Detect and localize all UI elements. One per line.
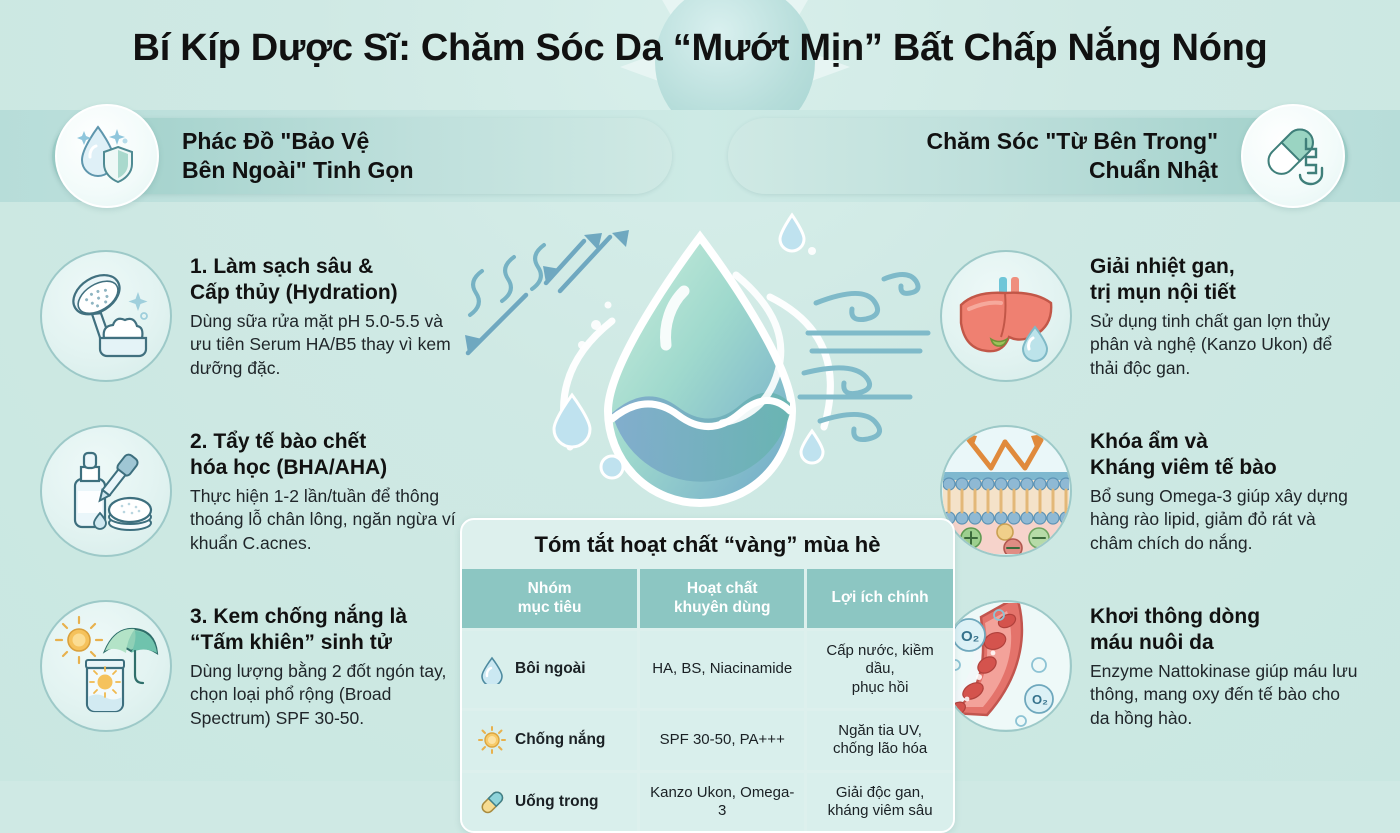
summary-table: Nhóm mục tiêu Hoạt chất khuyên dùng Lợi … <box>462 569 953 831</box>
table-cell-benefit: Cấp nước, kiềm dầu, phục hồi <box>806 630 953 710</box>
sun-glyph <box>56 617 102 663</box>
left-item-3: 3. Kem chống nắng là “Tấm khiên” sinh tử… <box>40 600 460 732</box>
banner-left-line1: Phác Đồ "Bảo Vệ <box>182 127 414 156</box>
right-item-1-heading-line1: Giải nhiệt gan, <box>1090 255 1235 278</box>
left-item-2-heading-line1: 2. Tẩy tế bào chết <box>190 430 366 453</box>
left-item-3-text: 3. Kem chống nắng là “Tấm khiên” sinh tử… <box>190 600 460 730</box>
banner-left-badge <box>55 104 159 208</box>
sun-icon <box>478 726 506 754</box>
right-item-1-icon-circle <box>940 250 1072 382</box>
banner-right-text: Chăm Sóc "Từ Bên Trong" Chuẩn Nhật <box>927 127 1219 185</box>
svg-text:O₂: O₂ <box>961 628 979 645</box>
table-header-group-line1: Nhóm <box>528 580 572 597</box>
table-row: Uống trong Kanzo Ukon, Omega-3 Giải độc … <box>462 771 953 831</box>
table-header-row: Nhóm mục tiêu Hoạt chất khuyên dùng Lợi … <box>462 569 953 630</box>
liver-droplet-icon <box>951 261 1061 371</box>
page-title: Bí Kíp Dược Sĩ: Chăm Sóc Da “Mướt Mịn” B… <box>0 26 1400 72</box>
infographic-canvas: Bí Kíp Dược Sĩ: Chăm Sóc Da “Mướt Mịn” B… <box>0 0 1400 781</box>
table-row: Chống nắng SPF 30-50, PA+++ Ngăn tia UV,… <box>462 710 953 772</box>
sunscreen-tube-umbrella-icon <box>53 613 159 719</box>
right-item-2: Khóa ẩm và Kháng viêm tế bào Bổ sung Ome… <box>940 425 1360 557</box>
benefit-line2: chống lão hóa <box>833 740 927 757</box>
table-cell-ingredient: SPF 30-50, PA+++ <box>639 710 806 772</box>
left-item-3-heading-line2: “Tấm khiên” sinh tử <box>190 631 392 654</box>
banner-left-text: Phác Đồ "Bảo Vệ Bên Ngoài" Tinh Gọn <box>182 127 414 185</box>
left-item-3-body: Dùng lượng bằng 2 đốt ngón tay, chọn loạ… <box>190 660 460 730</box>
right-item-1-heading: Giải nhiệt gan, trị mụn nội tiết <box>1090 254 1360 305</box>
table-header-ingredient-line2: khuyên dùng <box>674 599 770 616</box>
right-item-3-icon-circle: O₂ O₂ <box>940 600 1072 732</box>
svg-text:O₂: O₂ <box>1032 692 1048 707</box>
table-header-benefit-line1: Lợi ích chính <box>832 589 929 606</box>
right-item-2-heading-line1: Khóa ẩm và <box>1090 430 1208 453</box>
serum-dropper-cotton-pad-icon <box>54 439 158 543</box>
left-item-3-icon-circle <box>40 600 172 732</box>
table-cell-ingredient: HA, BS, Niacinamide <box>639 630 806 710</box>
right-item-2-text: Khóa ẩm và Kháng viêm tế bào Bổ sung Ome… <box>1090 425 1360 555</box>
right-item-1-heading-line2: trị mụn nội tiết <box>1090 281 1236 304</box>
group-cell-inner: Chống nắng <box>468 726 631 754</box>
left-item-1-heading-line2: Cấp thủy (Hydration) <box>190 281 398 304</box>
table-cell-benefit: Giải độc gan, kháng viêm sâu <box>806 771 953 831</box>
right-item-3-heading: Khơi thông dòng máu nuôi da <box>1090 604 1360 655</box>
right-item-3-heading-line2: máu nuôi da <box>1090 631 1214 654</box>
right-item-2-body: Bổ sung Omega-3 giúp xây dựng hàng rào l… <box>1090 485 1360 555</box>
summary-table-body: Bôi ngoài HA, BS, Niacinamide Cấp nước, … <box>462 630 953 832</box>
cleansing-brush-foam-icon <box>54 264 158 368</box>
water-drop-icon <box>478 656 506 684</box>
hero-illustration <box>460 205 940 515</box>
right-item-2-heading: Khóa ẩm và Kháng viêm tế bào <box>1090 429 1360 480</box>
right-item-1-text: Giải nhiệt gan, trị mụn nội tiết Sử dụng… <box>1090 250 1360 380</box>
right-item-3-text: Khơi thông dòng máu nuôi da Enzyme Natto… <box>1090 600 1360 730</box>
table-cell-group: Uống trong <box>462 771 639 831</box>
benefit-line1: Giải độc gan, <box>836 784 924 801</box>
left-item-1-body: Dùng sữa rửa mặt pH 5.0-5.5 và ưu tiên S… <box>190 310 460 380</box>
left-item-1-text: 1. Làm sạch sâu & Cấp thủy (Hydration) D… <box>190 250 460 380</box>
table-header-group-line2: mục tiêu <box>518 599 582 616</box>
sunscreen-tube-glyph <box>86 660 124 711</box>
table-cell-group: Chống nắng <box>462 710 639 772</box>
left-item-2-icon-circle <box>40 425 172 557</box>
table-row: Bôi ngoài HA, BS, Niacinamide Cấp nước, … <box>462 630 953 710</box>
left-item-1-heading: 1. Làm sạch sâu & Cấp thủy (Hydration) <box>190 254 460 305</box>
left-item-2-heading: 2. Tẩy tế bào chết hóa học (BHA/AHA) <box>190 429 460 480</box>
capsule-intestine-icon <box>1254 117 1332 195</box>
right-item-1-body: Sử dụng tinh chất gan lợn thủy phân và n… <box>1090 310 1360 380</box>
table-header-group: Nhóm mục tiêu <box>462 569 639 630</box>
table-header-ingredient: Hoạt chất khuyên dùng <box>639 569 806 630</box>
group-cell-inner: Uống trong <box>468 788 631 816</box>
right-item-3-body: Enzyme Nattokinase giúp máu lưu thông, m… <box>1090 660 1360 730</box>
table-cell-group: Bôi ngoài <box>462 630 639 710</box>
benefit-line1: Ngăn tia UV, <box>838 722 922 739</box>
table-cell-benefit: Ngăn tia UV, chống lão hóa <box>806 710 953 772</box>
right-item-3-heading-line1: Khơi thông dòng <box>1090 605 1260 628</box>
banner-right-badge <box>1241 104 1345 208</box>
lipid-bilayer-membrane-icon <box>943 428 1069 554</box>
group-label: Bôi ngoài <box>515 660 586 679</box>
table-cell-ingredient: Kanzo Ukon, Omega-3 <box>639 771 806 831</box>
left-item-3-heading-line1: 3. Kem chống nắng là <box>190 605 407 628</box>
banner-right-line1: Chăm Sóc "Từ Bên Trong" <box>927 127 1219 156</box>
right-item-1: Giải nhiệt gan, trị mụn nội tiết Sử dụng… <box>940 250 1360 382</box>
summary-table-card: Tóm tắt hoạt chất “vàng” mùa hè Nhóm mục… <box>460 518 955 833</box>
left-item-3-heading: 3. Kem chống nắng là “Tấm khiên” sinh tử <box>190 604 460 655</box>
group-label: Uống trong <box>515 793 599 812</box>
banner-left-line2: Bên Ngoài" Tinh Gọn <box>182 156 414 185</box>
table-header-benefit: Lợi ích chính <box>806 569 953 630</box>
water-drop-uv-wind-illustration <box>460 205 940 515</box>
benefit-line2: kháng viêm sâu <box>828 802 933 819</box>
left-item-2-heading-line2: hóa học (BHA/AHA) <box>190 456 387 479</box>
benefit-line2: phục hồi <box>852 679 909 696</box>
left-item-2-text: 2. Tẩy tế bào chết hóa học (BHA/AHA) Thự… <box>190 425 460 555</box>
left-item-1-heading-line1: 1. Làm sạch sâu & <box>190 255 373 278</box>
group-cell-inner: Bôi ngoài <box>468 656 631 684</box>
left-item-1-icon-circle <box>40 250 172 382</box>
right-item-2-heading-line2: Kháng viêm tế bào <box>1090 456 1277 479</box>
left-item-2-body: Thực hiện 1-2 lần/tuần để thông thoáng l… <box>190 485 460 555</box>
right-item-2-icon-circle <box>940 425 1072 557</box>
summary-table-head: Nhóm mục tiêu Hoạt chất khuyên dùng Lợi … <box>462 569 953 630</box>
left-item-1: 1. Làm sạch sâu & Cấp thủy (Hydration) D… <box>40 250 460 382</box>
banner-right-line2: Chuẩn Nhật <box>927 156 1219 185</box>
table-header-ingredient-line1: Hoạt chất <box>687 580 758 597</box>
right-item-3: O₂ O₂ Khơi thông dòng máu nuôi da Enzyme… <box>940 600 1360 732</box>
benefit-line1: Cấp nước, kiềm dầu, <box>826 642 933 677</box>
capsule-icon <box>478 788 506 816</box>
water-drop-shield-icon <box>68 117 146 195</box>
blood-vessel-oxygen-icon: O₂ O₂ <box>943 603 1069 729</box>
summary-table-title: Tóm tắt hoạt chất “vàng” mùa hè <box>462 520 953 569</box>
group-label: Chống nắng <box>515 731 605 750</box>
left-item-2: 2. Tẩy tế bào chết hóa học (BHA/AHA) Thự… <box>40 425 460 557</box>
